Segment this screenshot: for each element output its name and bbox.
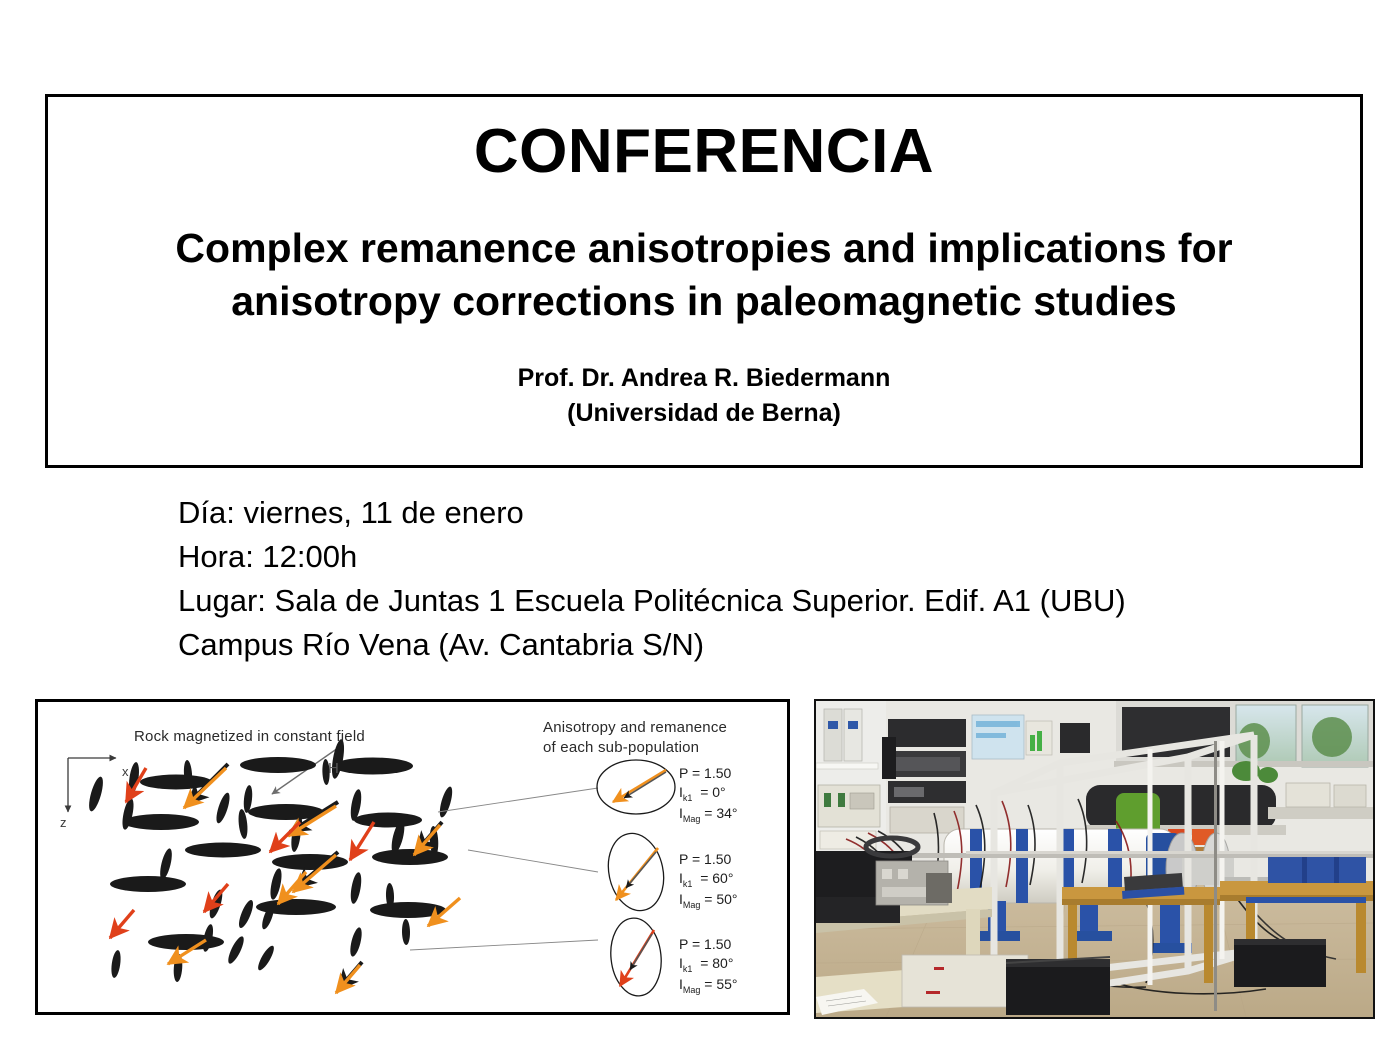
speaker-name: Prof. Dr. Andrea R. Biedermann	[48, 361, 1360, 396]
subpopulation-values-2: P = 1.50 Ik1 = 60° IMag = 50°	[679, 850, 738, 910]
subpop-3-ik1: Ik1 = 80°	[679, 954, 738, 975]
speaker-affiliation: (Universidad de Berna)	[48, 396, 1360, 431]
diagram-caption-right-line-2: of each sub-population	[543, 738, 727, 758]
page-title: CONFERENCIA	[48, 119, 1360, 184]
speaker-block: Prof. Dr. Andrea R. Biedermann (Universi…	[48, 361, 1360, 430]
field-label-h: H	[328, 760, 339, 777]
subpopulation-values-3: P = 1.50 Ik1 = 80° IMag = 55°	[679, 935, 738, 995]
talk-title-line-1: Complex remanence anisotropies and impli…	[66, 222, 1342, 274]
foreground-black-case	[1006, 957, 1110, 1015]
event-time: Hora: 12:00h	[178, 535, 1298, 579]
subpop-1-imag: IMag = 34°	[679, 804, 738, 825]
leader-lines	[410, 788, 598, 950]
subpop-1-ik1: Ik1 = 0°	[679, 783, 738, 804]
lab-photo-render	[816, 701, 1373, 1017]
inset-ellipse-3	[607, 916, 665, 999]
event-details: Día: viernes, 11 de enero Hora: 12:00h L…	[178, 491, 1298, 667]
diagram-caption-right-line-1: Anisotropy and remanence	[543, 718, 727, 738]
subpop-3-p: P = 1.50	[679, 935, 738, 954]
back-rack	[882, 719, 966, 833]
subpopulation-insets	[597, 760, 675, 998]
event-place: Lugar: Sala de Juntas 1 Escuela Politécn…	[178, 579, 1298, 623]
subpop-1-p: P = 1.50	[679, 764, 738, 783]
talk-title: Complex remanence anisotropies and impli…	[48, 222, 1360, 327]
subpopulation-values-1: P = 1.50 Ik1 = 0° IMag = 34°	[679, 764, 738, 824]
title-box: CONFERENCIA Complex remanence anisotropi…	[45, 94, 1363, 468]
talk-title-line-2: anisotropy corrections in paleomagnetic …	[66, 275, 1342, 327]
event-day: Día: viernes, 11 de enero	[178, 491, 1298, 535]
axis-label-z: z	[60, 815, 67, 830]
inset-ellipse-2	[601, 828, 670, 916]
diagram-caption-right: Anisotropy and remanence of each sub-pop…	[543, 718, 727, 758]
subpopulation-inset-arrows	[613, 770, 666, 986]
diagram-panel: Rock magnetized in constant field Anisot…	[35, 699, 790, 1015]
subpop-2-p: P = 1.50	[679, 850, 738, 869]
event-campus: Campus Río Vena (Av. Cantabria S/N)	[178, 623, 1298, 667]
subpop-2-imag: IMag = 50°	[679, 890, 738, 911]
subpop-2-ik1: Ik1 = 60°	[679, 869, 738, 890]
subpop-3-imag: IMag = 55°	[679, 975, 738, 996]
diagram-caption-left: Rock magnetized in constant field	[134, 728, 365, 745]
axis-label-x: x	[122, 764, 129, 779]
lab-photo	[814, 699, 1375, 1019]
